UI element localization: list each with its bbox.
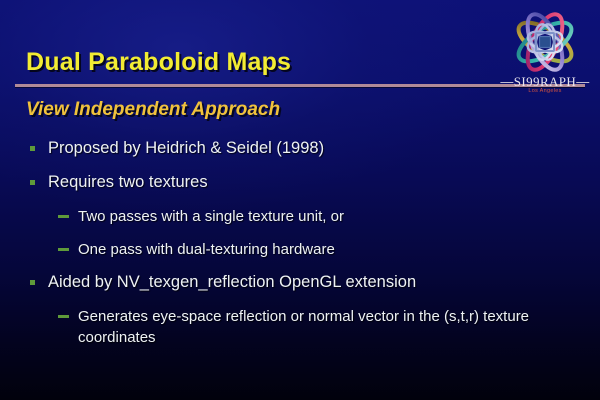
bullet-list: Proposed by Heidrich & Seidel (1998) Req… [26,138,582,360]
slide-title: Dual Paraboloid Maps [26,48,291,77]
wordmark-text: SI99RAPH [514,74,576,89]
square-bullet-icon [30,180,35,185]
list-item-label: Two passes with a single texture unit, o… [78,206,344,227]
wordmark-dash-right: — [576,74,589,89]
siggraph-logo: —SI99RAPH— Los Angeles [497,8,593,100]
slide-canvas: Dual Paraboloid Maps View Independent Ap… [0,0,600,400]
slide-subtitle: View Independent Approach [26,99,280,121]
list-item-label: Proposed by Heidrich & Seidel (1998) [48,138,324,158]
list-item: Requires two textures [26,172,582,192]
list-item: Proposed by Heidrich & Seidel (1998) [26,138,582,158]
list-item-label: One pass with dual-texturing hardware [78,239,335,260]
list-item-label: Requires two textures [48,172,208,192]
dash-bullet-icon [58,215,69,218]
list-item: Aided by NV_texgen_reflection OpenGL ext… [26,272,582,292]
square-bullet-icon [30,146,35,151]
wordmark-dash-left: — [500,74,513,89]
list-item: Generates eye-space reflection or normal… [26,306,582,348]
dash-bullet-icon [58,248,69,251]
list-item-label: Aided by NV_texgen_reflection OpenGL ext… [48,272,416,292]
siggraph-city-label: Los Angeles [497,88,593,94]
square-bullet-icon [30,280,35,285]
list-item: Two passes with a single texture unit, o… [26,206,582,227]
list-item-label: Generates eye-space reflection or normal… [78,306,582,348]
list-item: One pass with dual-texturing hardware [26,239,582,260]
dash-bullet-icon [58,315,69,318]
siggraph-rings-icon [503,8,587,76]
